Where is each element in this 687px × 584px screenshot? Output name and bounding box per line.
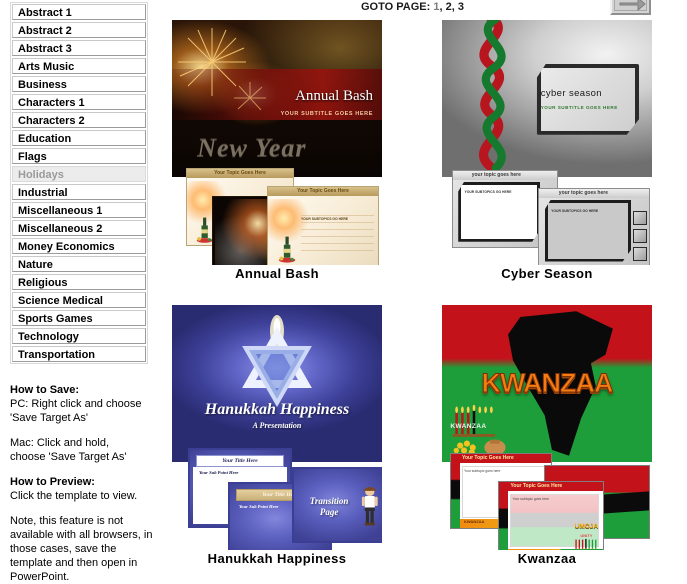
- sidebar-item-abstract-2[interactable]: Abstract 2: [12, 22, 146, 38]
- slide-topic: Your Topic Goes Here: [268, 187, 378, 196]
- content-slide-3: Your Topic Goes Here YOUR SUBTOPICS GO H…: [267, 186, 379, 265]
- template-gallery-page: Abstract 1 Abstract 2 Abstract 3 Arts Mu…: [0, 0, 687, 570]
- how-to-save-mac-line1: Mac: Click and hold,: [10, 436, 160, 450]
- slide-title: Annual Bash: [295, 88, 373, 105]
- template-card-hanukkah-happiness[interactable]: Hanukkah Happiness A Presentation Your T…: [172, 305, 382, 566]
- sidebar-item-transportation[interactable]: Transportation: [12, 346, 146, 362]
- sidebar-item-sports-games[interactable]: Sports Games: [12, 310, 146, 326]
- category-sidebar: Abstract 1 Abstract 2 Abstract 3 Arts Mu…: [10, 2, 148, 364]
- slide-subtopic: Your subtopic goes here: [464, 469, 500, 473]
- how-to-preview-block: How to Preview: Click the template to vi…: [10, 475, 160, 503]
- goto-page-label: GOTO PAGE:: [361, 1, 430, 13]
- slide-topic: Transition Page: [301, 496, 357, 517]
- template-card-cyber-season[interactable]: cyber season YOUR SUBTITLE GOES HERE you…: [442, 20, 652, 281]
- title-slide-kwanzaa: KWANZAA: [442, 305, 652, 462]
- slide-subtopic: Your Sub Point Here: [239, 504, 278, 509]
- sidebar-item-industrial[interactable]: Industrial: [12, 184, 146, 200]
- how-to-save-pc-line2: 'Save Target As': [10, 411, 160, 425]
- cartoon-person-icon: [359, 483, 381, 528]
- sidebar-item-money-economics[interactable]: Money Economics: [12, 238, 146, 254]
- template-thumbnail-kwanzaa[interactable]: KWANZAA: [442, 305, 652, 550]
- sidebar-item-miscellaneous-2[interactable]: Miscellaneous 2: [12, 220, 146, 236]
- sidebar-item-characters-1[interactable]: Characters 1: [12, 94, 146, 110]
- arrow-right-icon: [618, 0, 647, 12]
- slide-footer: KWANZAA: [508, 549, 603, 550]
- how-to-save-block: How to Save: PC: Right click and choose …: [10, 383, 160, 425]
- sidebar-item-arts-music[interactable]: Arts Music: [12, 58, 146, 74]
- instructions-panel: How to Save: PC: Right click and choose …: [10, 383, 160, 584]
- slide-subtitle: A Presentation: [172, 421, 382, 430]
- note-block: Note, this feature is not available with…: [10, 514, 160, 584]
- title-slide-cyber-season: cyber season YOUR SUBTITLE GOES HERE: [442, 20, 652, 177]
- sidebar-item-education[interactable]: Education: [12, 130, 146, 146]
- slide-title: KWANZAA: [450, 368, 643, 399]
- title-slide-hanukkah-happiness: Hanukkah Happiness A Presentation: [172, 305, 382, 462]
- template-thumbnail-cyber-season[interactable]: cyber season YOUR SUBTITLE GOES HERE you…: [442, 20, 652, 265]
- content-slide-3: Transition Page: [292, 467, 382, 543]
- how-to-save-mac-line2: choose 'Save Target As': [10, 450, 160, 464]
- umoja-title: UMOJA: [572, 523, 601, 530]
- sidebar-item-science-medical[interactable]: Science Medical: [12, 292, 146, 308]
- color-stripe: [499, 482, 508, 550]
- chip: [633, 211, 647, 226]
- star-of-david-icon: [172, 305, 382, 462]
- slide-subtitle: KWANZAA: [450, 423, 486, 430]
- sidebar-item-abstract-1[interactable]: Abstract 1: [12, 4, 146, 20]
- slide-body: YOUR SUBTOPICS GO HERE: [268, 196, 378, 265]
- template-card-kwanzaa[interactable]: KWANZAA: [442, 305, 652, 566]
- pager-bar: GOTO PAGE: 1, 2, 3: [168, 0, 687, 18]
- slide-topic: Your Title Here: [196, 455, 284, 468]
- page-link-3[interactable]: 3: [458, 1, 464, 13]
- slide-subtopic: Your Sub Point Here: [199, 470, 238, 475]
- title-slide-annual-bash: New Year Annual Bash YOUR SUBTITLE GOES …: [172, 20, 382, 177]
- sidebar-item-religious[interactable]: Religious: [12, 274, 146, 290]
- goto-page-nav: GOTO PAGE: 1, 2, 3: [361, 1, 464, 13]
- sidebar-item-abstract-3[interactable]: Abstract 3: [12, 40, 146, 56]
- ribbon-icon: [459, 20, 530, 177]
- how-to-preview-text: Click the template to view.: [10, 489, 160, 503]
- title-plaque: [537, 64, 640, 135]
- how-to-save-pc-line1: PC: Right click and choose: [10, 397, 160, 411]
- sidebar-item-technology[interactable]: Technology: [12, 328, 146, 344]
- slide-subtopic: YOUR SUBTOPICS GO HERE: [301, 217, 348, 221]
- content-slide-2: your topic goes here YOUR SUBTOPICS GO H…: [538, 188, 650, 265]
- how-to-save-mac-block: Mac: Click and hold, choose 'Save Target…: [10, 436, 160, 464]
- text-lines: [301, 215, 374, 255]
- sidebar-item-characters-2[interactable]: Characters 2: [12, 112, 146, 128]
- color-stripe: [451, 454, 460, 528]
- template-name: Cyber Season: [442, 266, 652, 281]
- slide-topic: Your Topic Goes Here: [187, 169, 293, 178]
- slide-topic: your topic goes here: [453, 171, 557, 180]
- how-to-save-label: How to Save:: [10, 383, 160, 397]
- sidebar-item-miscellaneous-1[interactable]: Miscellaneous 1: [12, 202, 146, 218]
- chip: [633, 247, 647, 262]
- chip-strip: [633, 211, 647, 259]
- note-text: Note, this feature is not available with…: [10, 514, 160, 584]
- slide-topic: Your Topic Goes Here: [451, 454, 551, 463]
- sidebar-item-nature[interactable]: Nature: [12, 256, 146, 272]
- template-thumbnail-annual-bash[interactable]: New Year Annual Bash YOUR SUBTITLE GOES …: [172, 20, 382, 265]
- champagne-bottle-icon: [275, 235, 299, 263]
- decor-text-new-year: New Year: [197, 133, 306, 163]
- kinara-candles-icon: [448, 405, 511, 455]
- slide-topic: your topic goes here: [539, 189, 649, 198]
- slide-title: Hanukkah Happiness: [172, 401, 382, 419]
- sidebar-item-flags[interactable]: Flags: [12, 148, 146, 164]
- template-thumbnail-hanukkah-happiness[interactable]: Hanukkah Happiness A Presentation Your T…: [172, 305, 382, 550]
- slide-subtitle: YOUR SUBTITLE GOES HERE: [541, 105, 618, 110]
- slide-topic: Your Topic Goes Here: [499, 482, 603, 491]
- next-page-button[interactable]: [610, 0, 651, 15]
- umoja-badge: UMOJA UNITY: [572, 523, 601, 550]
- sidebar-item-business[interactable]: Business: [12, 76, 146, 92]
- slide-subtopic: YOUR SUBTOPICS GO HERE: [464, 190, 511, 194]
- template-name: Hanukkah Happiness: [172, 551, 382, 566]
- chip: [633, 229, 647, 244]
- how-to-preview-label: How to Preview:: [10, 475, 160, 489]
- slide-subtitle: YOUR SUBTITLE GOES HERE: [281, 111, 373, 117]
- template-name: Kwanzaa: [442, 551, 652, 566]
- slide-title: cyber season: [541, 88, 602, 99]
- sidebar-item-holidays[interactable]: Holidays: [12, 166, 146, 182]
- slide-subtopic: Your subtopic goes here: [513, 497, 549, 501]
- content-slide-2: Your Topic Goes Here Your subtopic goes …: [498, 481, 604, 550]
- slide-subtopic: YOUR SUBTOPICS GO HERE: [551, 209, 598, 213]
- template-name: Annual Bash: [172, 266, 382, 281]
- template-card-annual-bash[interactable]: New Year Annual Bash YOUR SUBTITLE GOES …: [172, 20, 382, 281]
